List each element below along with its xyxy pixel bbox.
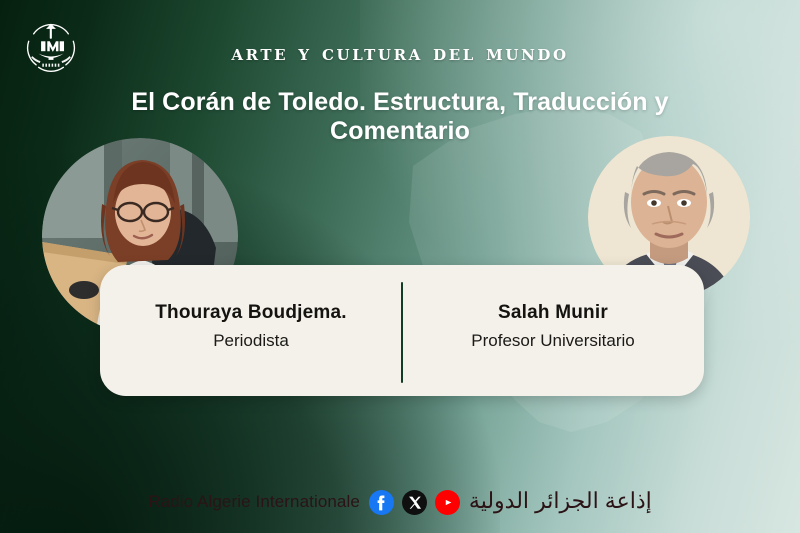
footer-brand-latin: Radio Algerie Internationale <box>148 492 360 512</box>
footer-brand-arabic: إذاعة الجزائر الدولية <box>469 490 652 514</box>
speaker-name: Thouraya Boudjema. <box>106 301 396 325</box>
social-links <box>369 490 460 515</box>
speaker-entry-right: Salah Munir Profesor Universitario <box>408 301 698 352</box>
speaker-role: Profesor Universitario <box>408 330 698 352</box>
page-title: El Corán de Toledo. Estructura, Traducci… <box>110 88 690 146</box>
card-divider <box>401 282 403 383</box>
facebook-icon[interactable] <box>369 490 394 515</box>
speaker-name: Salah Munir <box>408 301 698 325</box>
speaker-entry-left: Thouraya Boudjema. Periodista <box>106 301 396 352</box>
footer-bar: Radio Algerie Internationale <box>0 485 800 519</box>
speakers-card: Thouraya Boudjema. Periodista Salah Muni… <box>100 265 704 396</box>
youtube-icon[interactable] <box>435 490 460 515</box>
section-kicker: ARTE Y CULTURA DEL MUNDO <box>0 40 800 66</box>
promo-poster: ARTE Y CULTURA DEL MUNDO El Corán de Tol… <box>0 0 800 533</box>
speaker-role: Periodista <box>106 330 396 352</box>
x-twitter-icon[interactable] <box>402 490 427 515</box>
